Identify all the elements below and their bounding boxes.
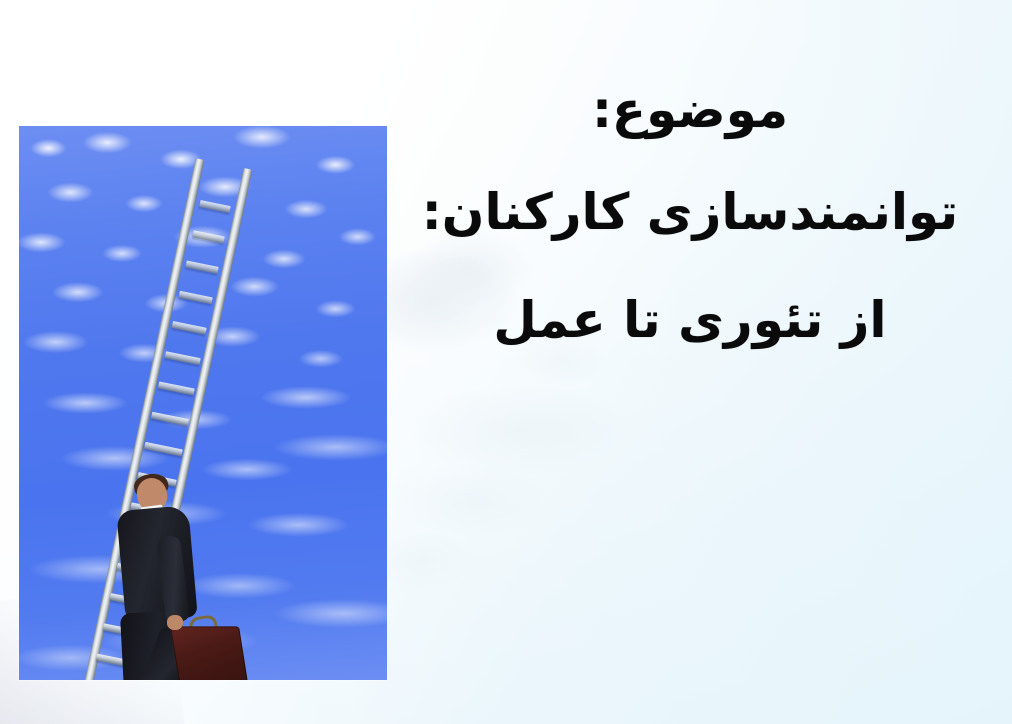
topic-title: توانمندسازی کارکنان: bbox=[400, 158, 980, 266]
businessman-figure bbox=[103, 478, 253, 680]
ladder-rung bbox=[144, 442, 183, 456]
ladder-rung bbox=[178, 291, 212, 305]
ladder-rung bbox=[185, 261, 218, 274]
ladder-photo bbox=[19, 126, 387, 680]
briefcase bbox=[170, 626, 248, 680]
figure-hand bbox=[167, 615, 183, 630]
subject-label: موضوع: bbox=[400, 62, 980, 158]
ladder-rung bbox=[165, 351, 201, 365]
headline-block: موضوع: توانمندسازی کارکنان: از تئوری تا … bbox=[400, 62, 980, 374]
ladder-rung bbox=[151, 412, 189, 426]
presentation-slide: موضوع: توانمندسازی کارکنان: از تئوری تا … bbox=[0, 0, 1012, 724]
ladder-rung bbox=[158, 381, 195, 395]
ladder-rung bbox=[199, 200, 231, 213]
ladder-rung bbox=[192, 230, 225, 243]
topic-subtitle: از تئوری تا عمل bbox=[400, 266, 980, 374]
ladder-rung bbox=[172, 321, 207, 335]
